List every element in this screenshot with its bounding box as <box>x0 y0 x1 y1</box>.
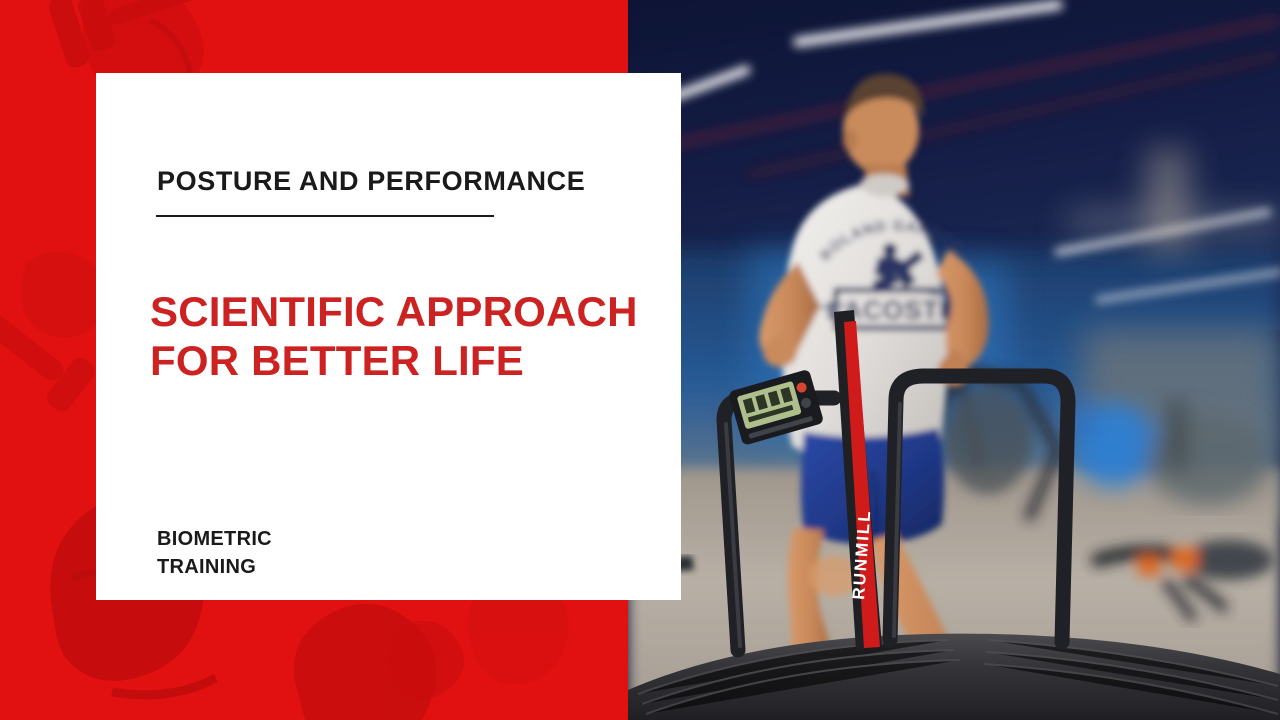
page-title: SCIENTIFIC APPROACH FOR BETTER LIFE <box>150 287 638 385</box>
subtitle-caption: BIOMETRIC TRAINING <box>157 525 272 582</box>
gym-photo-artwork: ROLAND GARROS LACOSTE <box>628 0 1280 720</box>
gym-photo: ROLAND GARROS LACOSTE <box>628 0 1280 720</box>
title-divider <box>156 215 494 217</box>
eyebrow-title: POSTURE AND PERFORMANCE <box>157 167 585 197</box>
slide-root: ROLAND GARROS LACOSTE <box>0 0 1280 720</box>
